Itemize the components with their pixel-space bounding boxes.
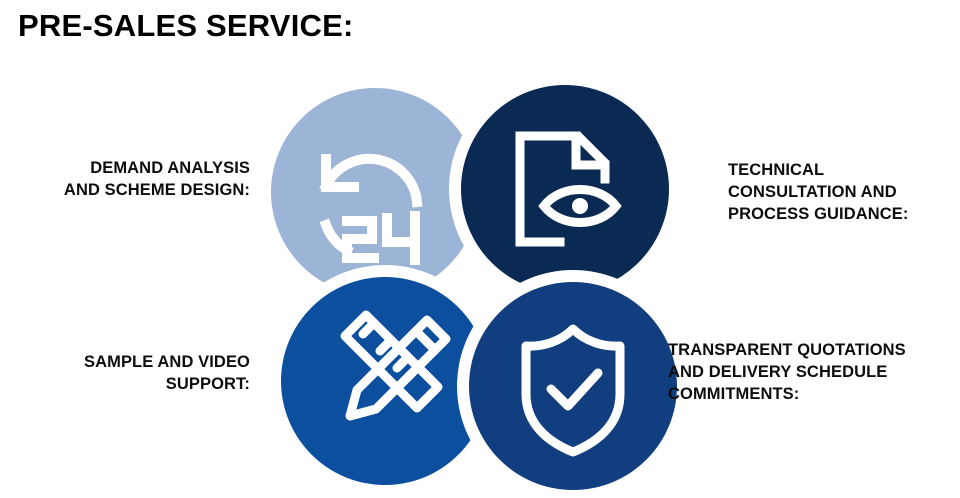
label-line: SUPPORT: — [10, 374, 250, 396]
page-title: PRE-SALES SERVICE: — [18, 8, 354, 44]
label-sample-video-support: SAMPLE AND VIDEO SUPPORT: — [10, 352, 250, 396]
circle-sample-video-support[interactable] — [281, 277, 489, 485]
circle-transparent-quotations[interactable] — [469, 282, 677, 490]
label-line: TRANSPARENT QUOTATIONS — [668, 340, 958, 362]
label-line: COMMITMENTS: — [668, 384, 958, 406]
label-line: PROCESS GUIDANCE: — [728, 204, 950, 226]
venn-circle-cluster — [268, 84, 688, 494]
label-line: SAMPLE AND VIDEO — [10, 352, 250, 374]
label-line: TECHNICAL — [728, 160, 950, 182]
circle-demand-analysis[interactable] — [271, 88, 479, 296]
label-line: AND SCHEME DESIGN: — [10, 180, 250, 202]
label-line: AND DELIVERY SCHEDULE — [668, 362, 958, 384]
label-line: CONSULTATION AND — [728, 182, 950, 204]
circle-shape-demand-analysis — [271, 88, 479, 296]
label-transparent-quotations: TRANSPARENT QUOTATIONS AND DELIVERY SCHE… — [668, 340, 958, 405]
label-line: DEMAND ANALYSIS — [10, 158, 250, 180]
circle-shape-transparent-quotations — [469, 282, 677, 490]
circle-technical-consultation[interactable] — [461, 85, 669, 293]
label-technical-consultation: TECHNICAL CONSULTATION AND PROCESS GUIDA… — [728, 160, 950, 225]
label-demand-analysis: DEMAND ANALYSIS AND SCHEME DESIGN: — [10, 158, 250, 202]
